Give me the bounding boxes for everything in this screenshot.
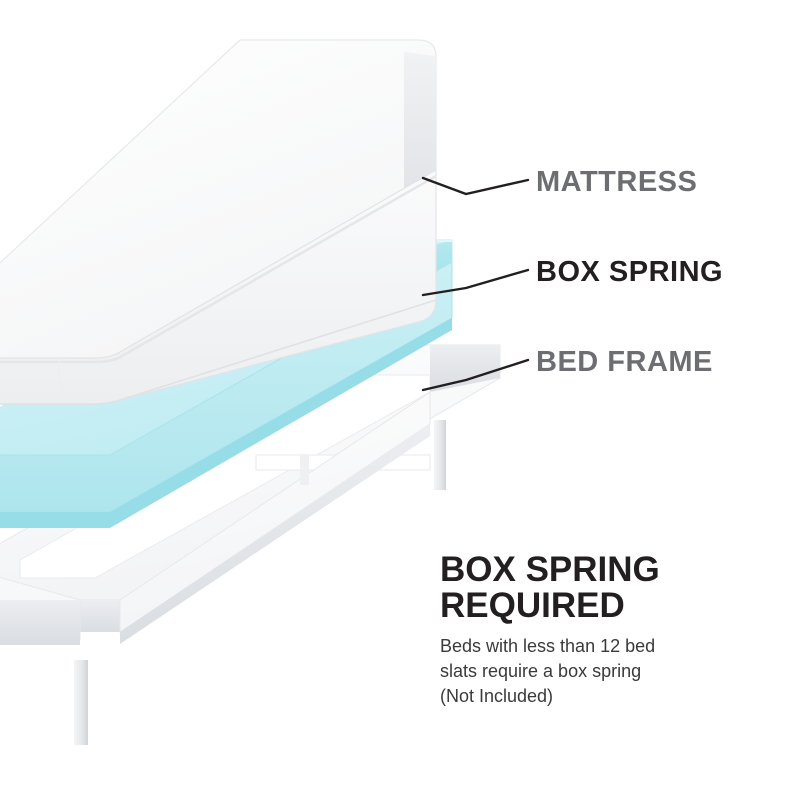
box-spring-required-callout: BOX SPRING REQUIRED Beds with less than … — [440, 552, 780, 709]
frame-leg-left — [74, 660, 88, 745]
callout-title-line-2: REQUIRED — [440, 588, 780, 624]
callout-body-line-1: Beds with less than 12 bed — [440, 634, 780, 659]
callout-body: Beds with less than 12 bed slats require… — [440, 634, 780, 709]
callout-body-line-2: slats require a box spring — [440, 659, 780, 684]
label-box-spring: BOX SPRING — [536, 256, 723, 289]
diagram-canvas: MATTRESS BOX SPRING BED FRAME BOX SPRING… — [0, 0, 800, 800]
callout-title-line-1: BOX SPRING — [440, 552, 780, 588]
callout-body-line-3: (Not Included) — [440, 684, 780, 709]
callout-title: BOX SPRING REQUIRED — [440, 552, 780, 624]
label-mattress: MATTRESS — [536, 166, 697, 199]
frame-leg-far — [300, 455, 309, 485]
leader-line-mattress — [423, 178, 528, 194]
frame-leg-right — [434, 420, 446, 490]
label-bed-frame: BED FRAME — [536, 346, 713, 379]
